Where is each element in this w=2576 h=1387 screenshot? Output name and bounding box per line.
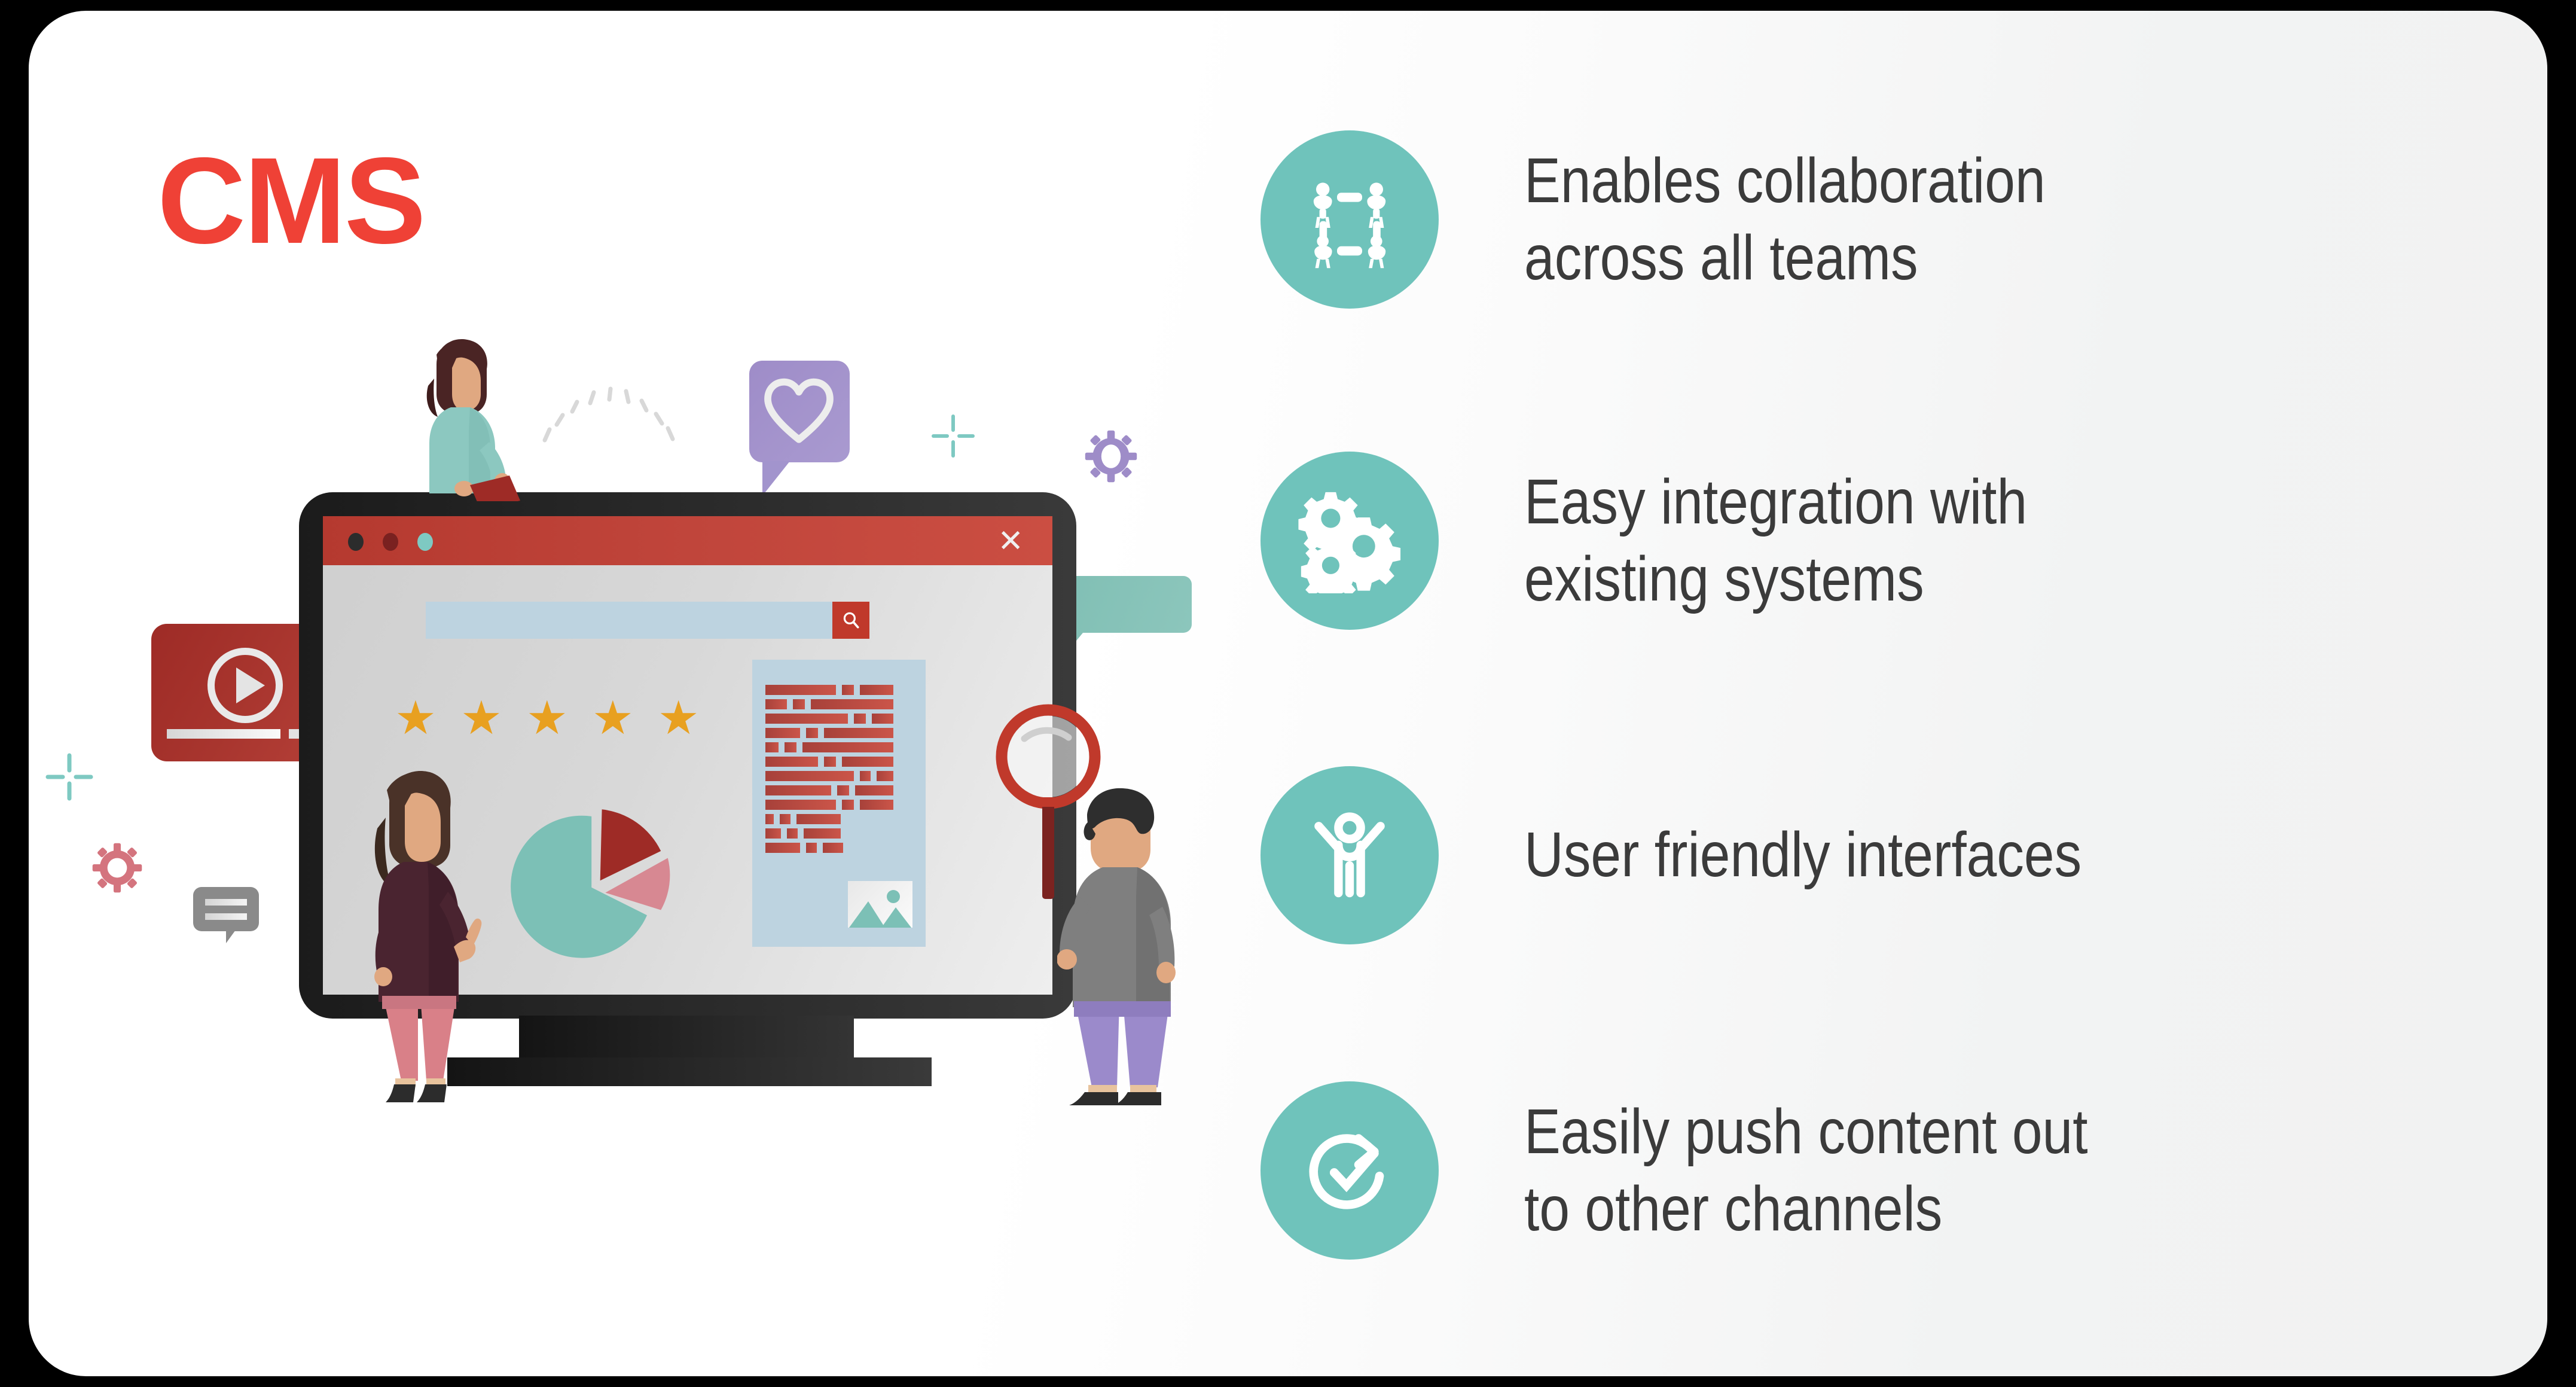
star-icon: ★ — [526, 694, 568, 741]
gear-icon — [91, 842, 143, 894]
image-placeholder — [848, 881, 912, 928]
star-icon: ★ — [658, 694, 700, 741]
chat-bubble — [193, 887, 259, 931]
person-arms-raised-icon — [1298, 804, 1401, 907]
feature-icon-badge — [1260, 452, 1439, 630]
mountain-photo-icon — [848, 881, 912, 928]
window-dot — [417, 533, 433, 551]
close-icon[interactable]: ✕ — [997, 526, 1024, 557]
star-icon: ★ — [395, 694, 437, 741]
feature-icon-badge — [1260, 130, 1439, 309]
feature-item-push-content[interactable]: Easily push content out to other channel… — [1260, 1081, 2180, 1260]
feature-label: Easy integration with existing systems — [1524, 464, 2027, 618]
heart-speech-bubble — [749, 361, 850, 462]
browser-titlebar: ✕ — [323, 516, 1052, 565]
window-dot — [348, 533, 364, 551]
search-button[interactable] — [832, 602, 869, 639]
arc-ticks-decoration — [540, 382, 677, 447]
collaboration-network-icon — [1299, 169, 1400, 270]
search-icon — [841, 610, 861, 630]
woman-pointing-figure — [361, 767, 501, 1102]
gears-icon — [1298, 489, 1402, 593]
plus-mark-icon — [929, 411, 978, 461]
gear-icon — [1084, 429, 1138, 483]
plus-mark-icon — [42, 749, 97, 804]
content-card: CMS — [29, 11, 2547, 1376]
slide-root: CMS — [0, 0, 2576, 1387]
pie-chart — [508, 797, 682, 971]
star-icon: ★ — [460, 694, 502, 741]
star-icon: ★ — [592, 694, 634, 741]
feature-item-integration[interactable]: Easy integration with existing systems — [1260, 452, 2109, 630]
feature-icon-badge — [1260, 1081, 1439, 1260]
document-panel — [752, 660, 926, 947]
cms-illustration: ✕ ★ ★ ★ ★ ★ — [29, 11, 1225, 1376]
feature-item-user-friendly[interactable]: User friendly interfaces — [1260, 766, 2172, 944]
play-icon — [200, 641, 290, 730]
man-with-magnifier-figure — [1057, 782, 1192, 1108]
feature-item-collaboration[interactable]: Enables collaboration across all teams — [1260, 130, 2131, 309]
feature-label: Easily push content out to other channel… — [1524, 1093, 2088, 1248]
refresh-check-icon — [1298, 1118, 1402, 1223]
window-dot — [383, 533, 398, 551]
woman-on-monitor-figure — [399, 337, 525, 501]
star-rating: ★ ★ ★ ★ ★ — [395, 694, 700, 741]
feature-label: Enables collaboration across all teams — [1524, 142, 2046, 297]
feature-label: User friendly interfaces — [1524, 816, 2081, 894]
search-input[interactable] — [426, 602, 832, 639]
heart-icon — [760, 373, 838, 450]
feature-icon-badge — [1260, 766, 1439, 944]
monitor-base — [447, 1057, 932, 1086]
